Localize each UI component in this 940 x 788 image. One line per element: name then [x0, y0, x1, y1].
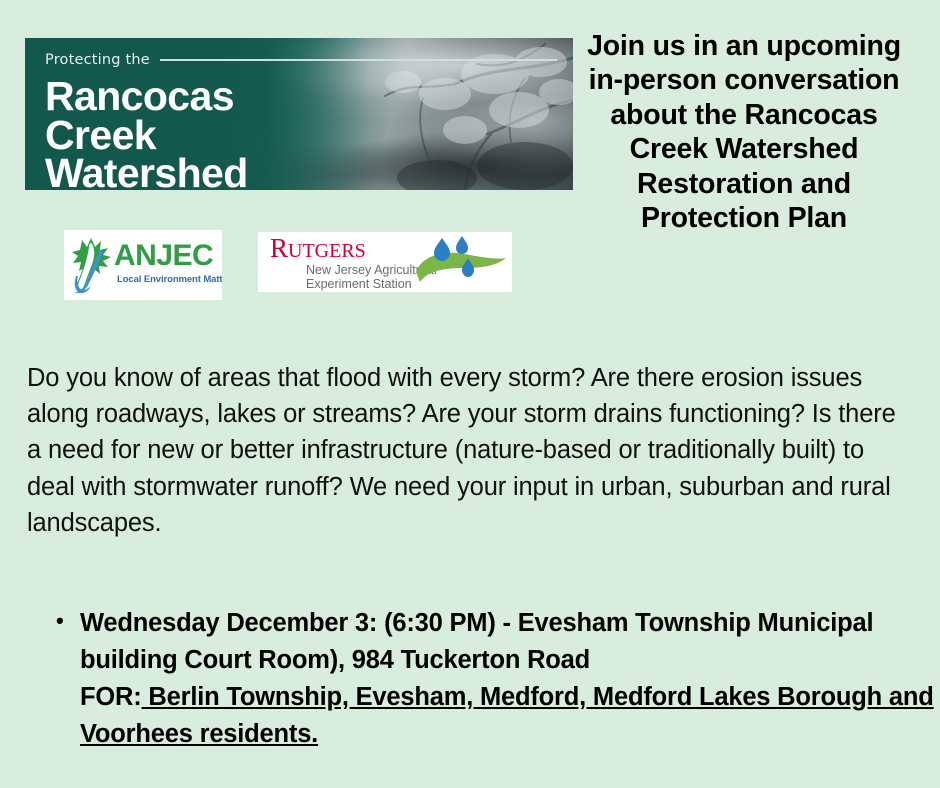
page-headline: Join us in an upcoming in-person convers…	[576, 29, 912, 236]
anjec-wordmark: ANJEC	[114, 241, 213, 271]
event-for-list: Berlin Township, Evesham, Medford, Medfo…	[80, 683, 934, 748]
rutgers-wordmark: RUTGERS	[270, 235, 366, 262]
event-list: Wednesday December 3: (6:30 PM) - Evesha…	[44, 605, 940, 753]
banner-kicker-row: Protecting the	[45, 52, 557, 68]
banner-title-line-1: Rancocas	[45, 77, 563, 116]
anjec-mark-icon	[70, 234, 118, 296]
header-section: Protecting the Rancocas Creek Watershed …	[0, 0, 940, 345]
event-details: Wednesday December 3: (6:30 PM) - Evesha…	[80, 609, 873, 674]
list-item: Wednesday December 3: (6:30 PM) - Evesha…	[80, 605, 940, 753]
event-for-label: FOR:	[80, 683, 142, 711]
banner-title-line-2: Creek	[45, 116, 563, 155]
rutgers-logo: RUTGERS New Jersey Agricultural Experime…	[258, 232, 512, 292]
anjec-logo: ANJEC Local Environment Matters	[64, 230, 222, 300]
banner-text-block: Protecting the Rancocas Creek Watershed	[45, 52, 563, 190]
banner-title: Rancocas Creek Watershed	[45, 77, 563, 190]
watershed-banner: Protecting the Rancocas Creek Watershed	[25, 38, 573, 190]
banner-kicker: Protecting the	[45, 52, 150, 68]
body-paragraph: Do you know of areas that flood with eve…	[27, 360, 907, 541]
anjec-tagline: Local Environment Matters	[117, 274, 222, 285]
banner-rule	[160, 59, 557, 61]
water-droplet-leaf-icon	[412, 234, 508, 290]
banner-title-line-3: Watershed	[45, 154, 563, 190]
